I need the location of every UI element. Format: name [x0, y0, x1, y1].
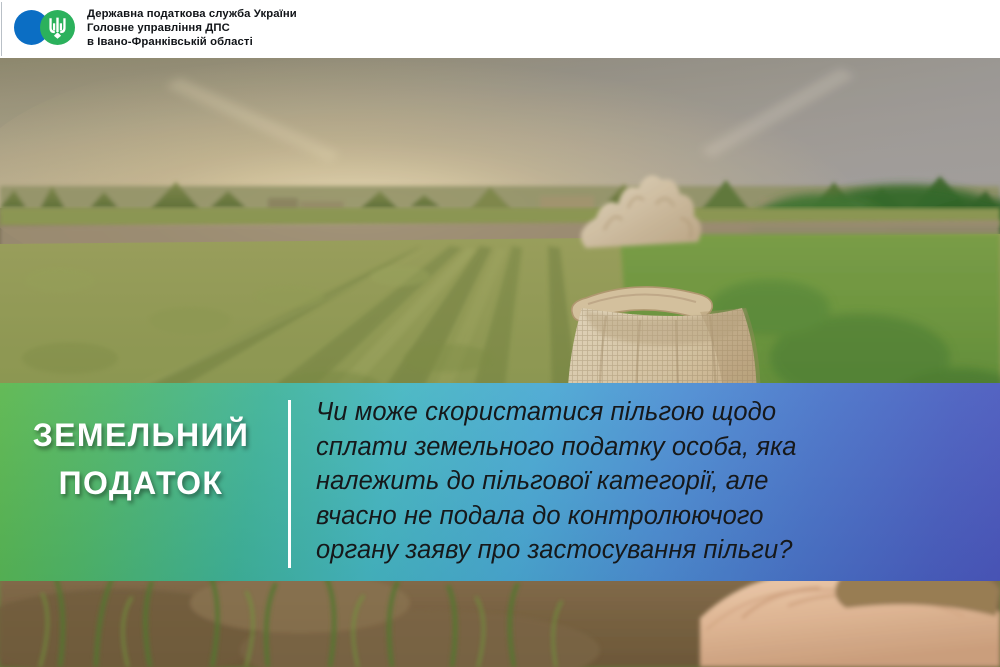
banner-title: ЗЕМЕЛЬНИЙ ПОДАТОК: [0, 411, 282, 507]
banner-title-line-1: ЗЕМЕЛЬНИЙ: [0, 411, 282, 459]
org-line-3: в Івано-Франківській області: [87, 35, 507, 49]
dps-logo: [14, 9, 78, 45]
question-line-2: сплати земельного податку особа, яка: [316, 430, 982, 465]
header-left-rule: [1, 2, 2, 56]
site-header: Державна податкова служба України Головн…: [0, 0, 1000, 58]
org-line-2: Головне управління ДПС: [87, 21, 507, 35]
organization-name: Державна податкова служба України Головн…: [87, 7, 507, 50]
ukraine-trident-emblem-icon: [47, 17, 68, 39]
org-line-1: Державна податкова служба України: [87, 7, 507, 21]
banner-vertical-divider: [288, 400, 291, 568]
question-line-5: органу заяву про застосування пільги?: [316, 533, 982, 568]
banner-title-line-2: ПОДАТОК: [0, 459, 282, 507]
infographic-page: Державна податкова служба України Головн…: [0, 0, 1000, 667]
topic-banner: ЗЕМЕЛЬНИЙ ПОДАТОК Чи може скористатися п…: [0, 383, 1000, 581]
question-line-1: Чи може скористатися пільгою щодо: [316, 395, 982, 430]
question-line-3: належить до пільгової категорії, але: [316, 464, 982, 499]
question-line-4: вчасно не подала до контролюючого: [316, 499, 982, 534]
banner-question: Чи може скористатися пільгою щодо сплати…: [316, 395, 982, 568]
